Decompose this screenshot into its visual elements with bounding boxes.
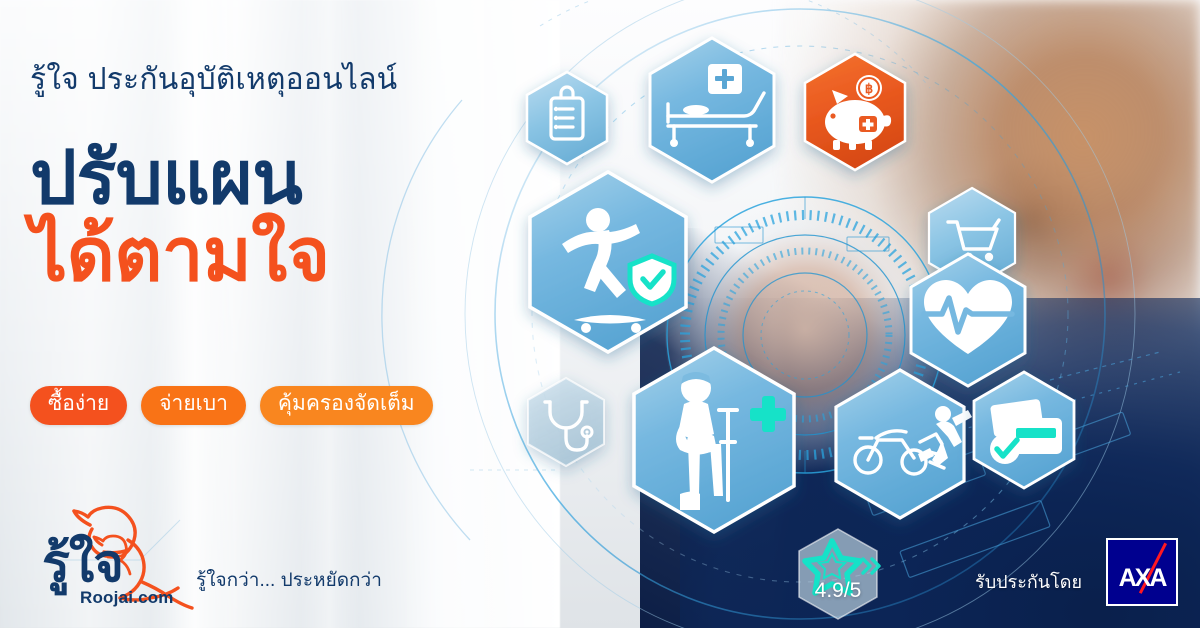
hero-kicker: รู้ใจ ประกันอุบัติเหตุออนไลน์ (30, 62, 397, 98)
star-icon (792, 527, 884, 625)
feature-badge-list: ซื้อง่าย จ่ายเบา คุ้มครองจัดเต็ม (30, 386, 433, 425)
headline-line-1: ปรับแผน (30, 142, 330, 213)
axa-logo-text: AXA (1108, 564, 1176, 593)
rating-value: 4.9/5 (792, 579, 884, 603)
roojai-logo[interactable]: รู้ใจ Roojai.com (42, 505, 217, 610)
feature-badge-buy-easy[interactable]: ซื้อง่าย (30, 386, 127, 425)
underwriter-label: รับประกันโดย (975, 567, 1082, 596)
banner-root: ฿ (0, 0, 1200, 628)
feature-badge-low-pay[interactable]: จ่ายเบา (141, 386, 246, 425)
axa-logo: AXA (1106, 538, 1178, 606)
headline-line-2: ได้ตามใจ (30, 219, 330, 290)
rating-badge: 4.9/5 (792, 527, 884, 625)
roojai-logo-text: รู้ใจ (42, 538, 123, 590)
feature-badge-full-cover[interactable]: คุ้มครองจัดเต็ม (260, 386, 433, 425)
page-title: ปรับแผน ได้ตามใจ (30, 142, 330, 290)
roojai-domain-text: Roojai.com (80, 588, 174, 608)
brand-tagline: รู้ใจกว่า... ประหยัดกว่า (196, 565, 382, 595)
